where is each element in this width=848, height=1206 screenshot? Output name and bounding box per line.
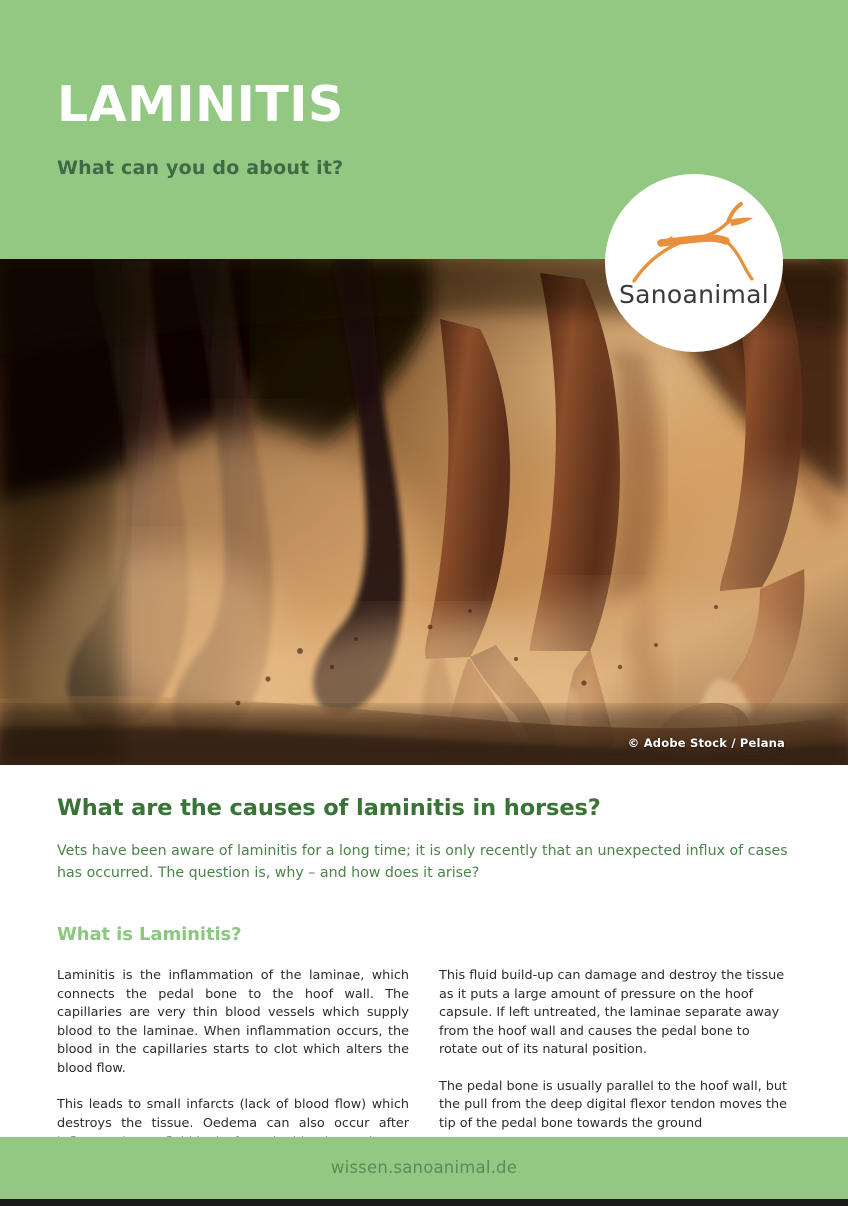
body-paragraph: The pedal bone is usually parallel to th… <box>439 1078 791 1134</box>
photo-credit: © Adobe Stock / Pelana <box>628 736 785 750</box>
page-subtitle: What can you do about it? <box>57 159 343 178</box>
body-column-right: This fluid build-up can damage and destr… <box>439 967 791 1152</box>
logo-wordmark: Sanoanimal <box>605 280 783 309</box>
two-column-body: Laminitis is the inflammation of the lam… <box>57 967 791 1152</box>
flyer-page: LAMINITIS What can you do about it? Sano… <box>0 0 848 1206</box>
article-content: What are the causes of laminitis in hors… <box>57 795 791 1152</box>
bottom-edge-bar <box>0 1199 848 1206</box>
footer-url[interactable]: wissen.sanoanimal.de <box>0 1158 848 1177</box>
section-heading: What are the causes of laminitis in hors… <box>57 795 791 822</box>
sanoanimal-logo: Sanoanimal <box>605 174 783 352</box>
body-paragraph: This fluid build-up can damage and destr… <box>439 967 791 1060</box>
body-column-left: Laminitis is the inflammation of the lam… <box>57 967 409 1152</box>
lead-paragraph: Vets have been aware of laminitis for a … <box>57 841 789 884</box>
page-title: LAMINITIS <box>57 80 344 129</box>
section-subheading: What is Laminitis? <box>57 924 791 945</box>
footer-band: wissen.sanoanimal.de <box>0 1137 848 1199</box>
leaping-animal-icon <box>631 198 757 284</box>
body-paragraph: Laminitis is the inflammation of the lam… <box>57 967 409 1078</box>
